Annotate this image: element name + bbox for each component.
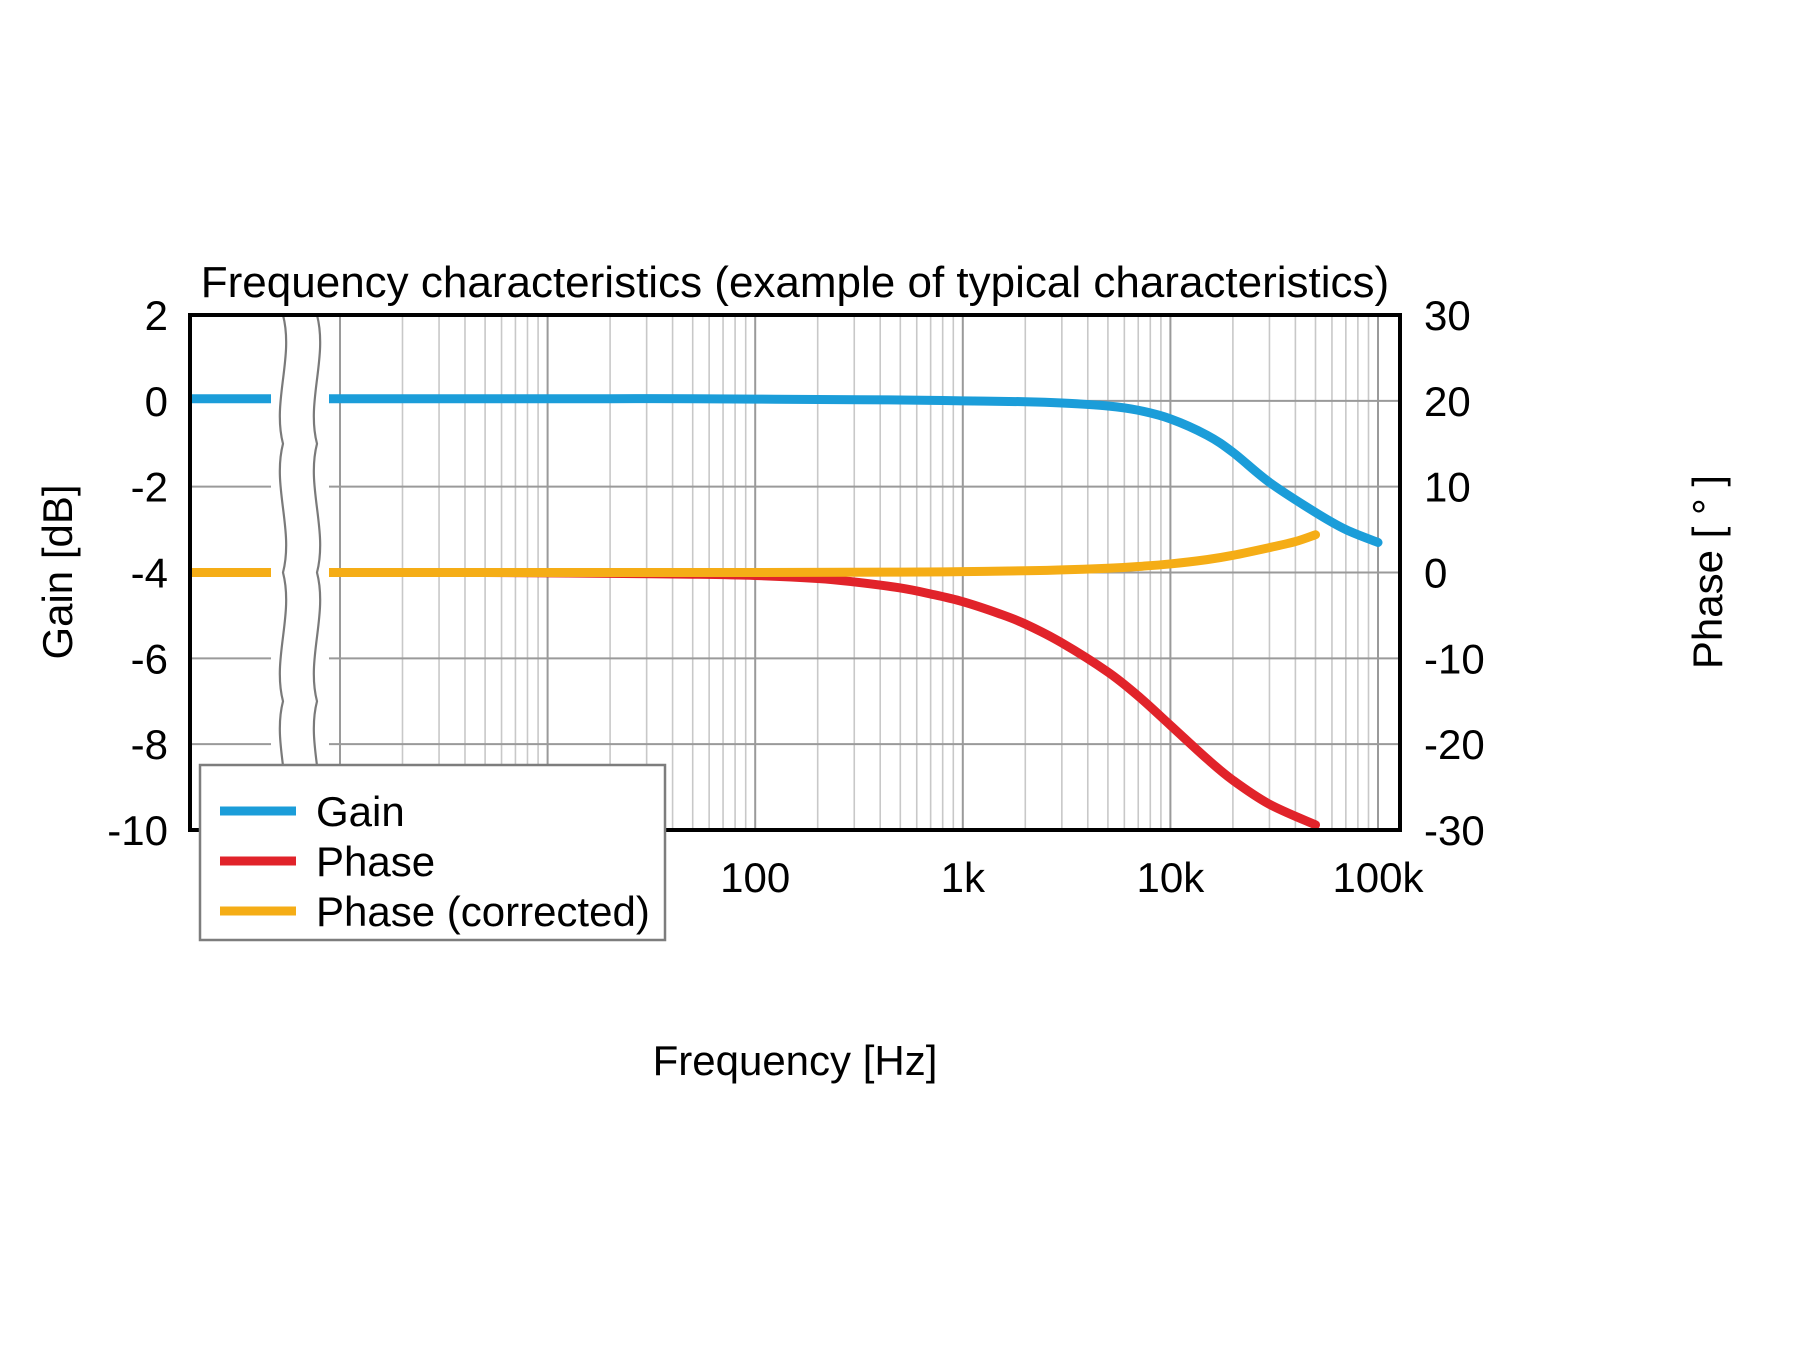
x-tick-label: 100	[720, 854, 790, 901]
y2-tick-label: -20	[1424, 721, 1485, 768]
x-axis-label: Frequency [Hz]	[653, 1037, 938, 1084]
y-tick-label: 2	[145, 292, 168, 339]
y2-tick-label: -30	[1424, 807, 1485, 854]
legend-label: Phase	[316, 838, 435, 885]
legend-label: Gain	[316, 788, 405, 835]
frequency-characteristics-chart: Frequency characteristics (example of ty…	[0, 0, 1800, 1350]
y2-tick-label: 10	[1424, 464, 1471, 511]
axis-break-icon	[271, 315, 329, 830]
chart-page: Frequency characteristics (example of ty…	[0, 0, 1800, 1350]
x-tick-label: 1k	[941, 854, 986, 901]
legend-label: Phase (corrected)	[316, 888, 650, 935]
y-tick-label: -8	[131, 721, 168, 768]
y-tick-label: 0	[145, 378, 168, 425]
y2-tick-label: -10	[1424, 635, 1485, 682]
y2-tick-label: 30	[1424, 292, 1471, 339]
y2-axis-label: Phase [ ° ]	[1684, 475, 1731, 669]
y-tick-label: -10	[107, 807, 168, 854]
y-tick-label: -6	[131, 635, 168, 682]
y-tick-label: -2	[131, 464, 168, 511]
y2-tick-label: 20	[1424, 378, 1471, 425]
y-tick-label: -4	[131, 550, 168, 597]
page-title: Frequency characteristics (example of ty…	[201, 258, 1389, 307]
x-tick-label: 10k	[1137, 854, 1206, 901]
chart-legend: GainPhasePhase (corrected)	[200, 765, 665, 940]
x-tick-label: 100k	[1332, 854, 1424, 901]
y2-tick-label: 0	[1424, 550, 1447, 597]
y-axis-label: Gain [dB]	[34, 484, 81, 659]
